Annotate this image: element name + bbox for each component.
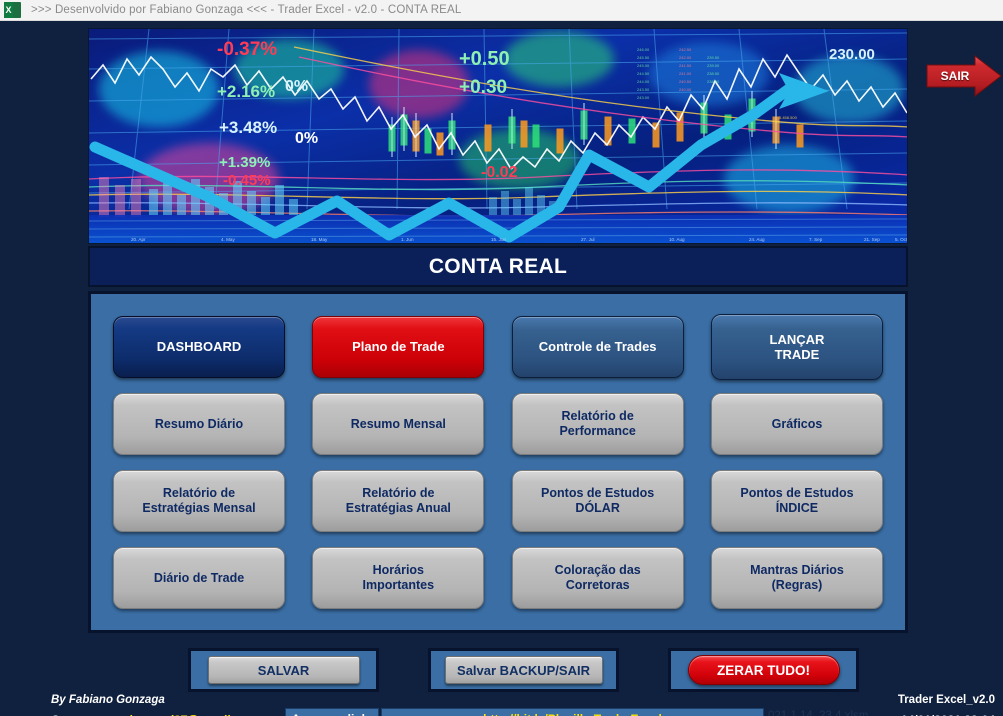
menu-button-label: Relatório dePerformance bbox=[553, 409, 641, 439]
menu-button-plano-de-trade[interactable]: Plano de Trade bbox=[312, 316, 484, 378]
svg-text:-0.45%: -0.45% bbox=[223, 172, 271, 189]
window-title: >>> Desenvolvido por Fabiano Gonzaga <<<… bbox=[31, 4, 461, 16]
menu-button-resumo-mensal[interactable]: Resumo Mensal bbox=[312, 393, 484, 455]
main-menu-panel: DASHBOARDPlano de TradeControle de Trade… bbox=[88, 291, 908, 633]
menu-button-label: Plano de Trade bbox=[346, 339, 450, 354]
menu-button-label: Pontos de EstudosDÓLAR bbox=[535, 486, 660, 516]
save-backup-exit-button[interactable]: Salvar BACKUP/SAIR bbox=[445, 656, 603, 684]
svg-text:240.00: 240.00 bbox=[679, 87, 692, 92]
svg-text:5.458.500: 5.458.500 bbox=[779, 115, 798, 120]
svg-text:+3.48%: +3.48% bbox=[219, 118, 277, 137]
menu-button-gráficos[interactable]: Gráficos bbox=[711, 393, 883, 455]
svg-text:244.50: 244.50 bbox=[637, 71, 650, 76]
svg-text:15. Jun: 15. Jun bbox=[491, 237, 507, 242]
footer-version: Trader Excel_v2.0 bbox=[898, 694, 995, 706]
svg-text:240.50: 240.50 bbox=[679, 79, 692, 84]
reset-all-button[interactable]: ZERAR TUDO! bbox=[688, 655, 840, 685]
menu-button-label: Mantras Diários(Regras) bbox=[744, 563, 850, 593]
menu-button-label: Gráficos bbox=[766, 417, 829, 432]
excel-icon bbox=[4, 2, 21, 18]
menu-button-label: Coloração dasCorretoras bbox=[549, 563, 647, 593]
menu-button-label: Pontos de EstudosÍNDICE bbox=[734, 486, 859, 516]
svg-text:241.00: 241.00 bbox=[679, 71, 692, 76]
svg-text:238.00: 238.00 bbox=[707, 79, 720, 84]
svg-text:230.00: 230.00 bbox=[829, 46, 875, 63]
svg-text:242.00: 242.00 bbox=[679, 55, 692, 60]
menu-button-mantras-diários-regras[interactable]: Mantras Diários(Regras) bbox=[711, 547, 883, 609]
menu-button-pontos-de-estudos-índice[interactable]: Pontos de EstudosÍNDICE bbox=[711, 470, 883, 532]
menu-button-label: HoráriosImportantes bbox=[357, 563, 441, 593]
svg-text:5. Oct: 5. Oct bbox=[895, 237, 908, 242]
footer-author: By Fabiano Gonzaga bbox=[51, 694, 165, 706]
menu-button-resumo-diário[interactable]: Resumo Diário bbox=[113, 393, 285, 455]
menu-row: Diário de TradeHoráriosImportantesColora… bbox=[113, 543, 883, 613]
menu-button-relatório-de-performance[interactable]: Relatório dePerformance bbox=[512, 393, 684, 455]
excel-title-bar: >>> Desenvolvido por Fabiano Gonzaga <<<… bbox=[0, 0, 1003, 21]
reset-button-frame: ZERAR TUDO! bbox=[668, 648, 859, 692]
menu-button-label: Diário de Trade bbox=[148, 571, 250, 586]
svg-text:7. Sep: 7. Sep bbox=[809, 237, 823, 242]
backup-button-frame: Salvar BACKUP/SAIR bbox=[428, 648, 619, 692]
svg-text:-0.37%: -0.37% bbox=[217, 39, 277, 60]
menu-button-label: Resumo Diário bbox=[149, 417, 249, 432]
menu-row: Relatório deEstratégias MensalRelatório … bbox=[113, 466, 883, 536]
svg-text:1. Jun: 1. Jun bbox=[401, 237, 414, 242]
svg-text:4. May: 4. May bbox=[221, 237, 235, 242]
page-title-bar: CONTA REAL bbox=[88, 246, 908, 287]
svg-text:245.00: 245.00 bbox=[637, 63, 650, 68]
svg-text:0%: 0% bbox=[285, 78, 308, 95]
banner-svg: -0.37% +0.50 +0.30 0% +2.16% +3.48% 0% +… bbox=[89, 29, 908, 244]
svg-text:245.50: 245.50 bbox=[637, 55, 650, 60]
svg-text:239.50: 239.50 bbox=[707, 55, 720, 60]
svg-text:243.00: 243.00 bbox=[637, 95, 650, 100]
svg-text:239.00: 239.00 bbox=[707, 63, 720, 68]
menu-button-controle-de-trades[interactable]: Controle de Trades bbox=[512, 316, 684, 378]
svg-text:21. Sep: 21. Sep bbox=[864, 237, 880, 242]
svg-text:244.00: 244.00 bbox=[637, 79, 650, 84]
svg-text:+0.30: +0.30 bbox=[459, 77, 507, 98]
app-body: -0.37% +0.50 +0.30 0% +2.16% +3.48% 0% +… bbox=[0, 21, 1003, 716]
menu-button-dashboard[interactable]: DASHBOARD bbox=[113, 316, 285, 378]
svg-text:238.50: 238.50 bbox=[707, 71, 720, 76]
menu-button-label: DASHBOARD bbox=[151, 339, 248, 354]
menu-button-label: Resumo Mensal bbox=[345, 417, 452, 432]
access-link-box[interactable]: http://bit.ly/PlanilhaTraderExcel bbox=[381, 708, 764, 716]
menu-button-coloração-das-corretoras[interactable]: Coloração dasCorretoras bbox=[512, 547, 684, 609]
sair-arrow-icon bbox=[925, 54, 1003, 98]
access-link-label: Acesse o link: bbox=[285, 708, 379, 716]
menu-button-label: Relatório deEstratégias Mensal bbox=[136, 486, 261, 516]
svg-text:10. Aug: 10. Aug bbox=[669, 237, 685, 242]
svg-text:0%: 0% bbox=[295, 130, 318, 147]
menu-row: Resumo DiárioResumo MensalRelatório dePe… bbox=[113, 389, 883, 459]
menu-button-diário-de-trade[interactable]: Diário de Trade bbox=[113, 547, 285, 609]
menu-button-label: LANÇARTRADE bbox=[764, 332, 831, 363]
menu-button-lançar-trade[interactable]: LANÇARTRADE bbox=[711, 314, 883, 380]
menu-button-pontos-de-estudos-dólar[interactable]: Pontos de EstudosDÓLAR bbox=[512, 470, 684, 532]
svg-text:241.50: 241.50 bbox=[679, 63, 692, 68]
svg-text:+2.16%: +2.16% bbox=[217, 82, 275, 101]
menu-button-label: Controle de Trades bbox=[533, 339, 663, 354]
sair-button[interactable]: SAIR bbox=[925, 54, 1003, 98]
svg-text:246.00: 246.00 bbox=[637, 47, 650, 52]
page-title: CONTA REAL bbox=[429, 255, 567, 279]
svg-text:27. Jul: 27. Jul bbox=[581, 237, 595, 242]
menu-button-relatório-de-estratégias-mensal[interactable]: Relatório deEstratégias Mensal bbox=[113, 470, 285, 532]
svg-text:242.50: 242.50 bbox=[679, 47, 692, 52]
svg-text:-0.02: -0.02 bbox=[481, 164, 518, 181]
svg-text:243.50: 243.50 bbox=[637, 87, 650, 92]
banner-chart-image: -0.37% +0.50 +0.30 0% +2.16% +3.48% 0% +… bbox=[88, 28, 908, 244]
menu-button-relatório-de-estratégias-anual[interactable]: Relatório deEstratégias Anual bbox=[312, 470, 484, 532]
menu-button-label: Relatório deEstratégias Anual bbox=[340, 486, 457, 516]
save-button-frame: SALVAR bbox=[188, 648, 379, 692]
svg-text:18. May: 18. May bbox=[311, 237, 328, 242]
save-button[interactable]: SALVAR bbox=[208, 656, 360, 684]
svg-text:24. Aug: 24. Aug bbox=[749, 237, 765, 242]
access-link-url[interactable]: http://bit.ly/PlanilhaTraderExcel bbox=[483, 712, 662, 716]
svg-text:+1.39%: +1.39% bbox=[219, 154, 270, 171]
svg-text:20. Apr: 20. Apr bbox=[131, 237, 146, 242]
svg-text:+0.50: +0.50 bbox=[459, 48, 510, 70]
menu-button-horários-importantes[interactable]: HoráriosImportantes bbox=[312, 547, 484, 609]
menu-row: DASHBOARDPlano de TradeControle de Trade… bbox=[113, 312, 883, 382]
background-filename-text: 021.1.14_23.4.xlsm bbox=[768, 710, 868, 716]
